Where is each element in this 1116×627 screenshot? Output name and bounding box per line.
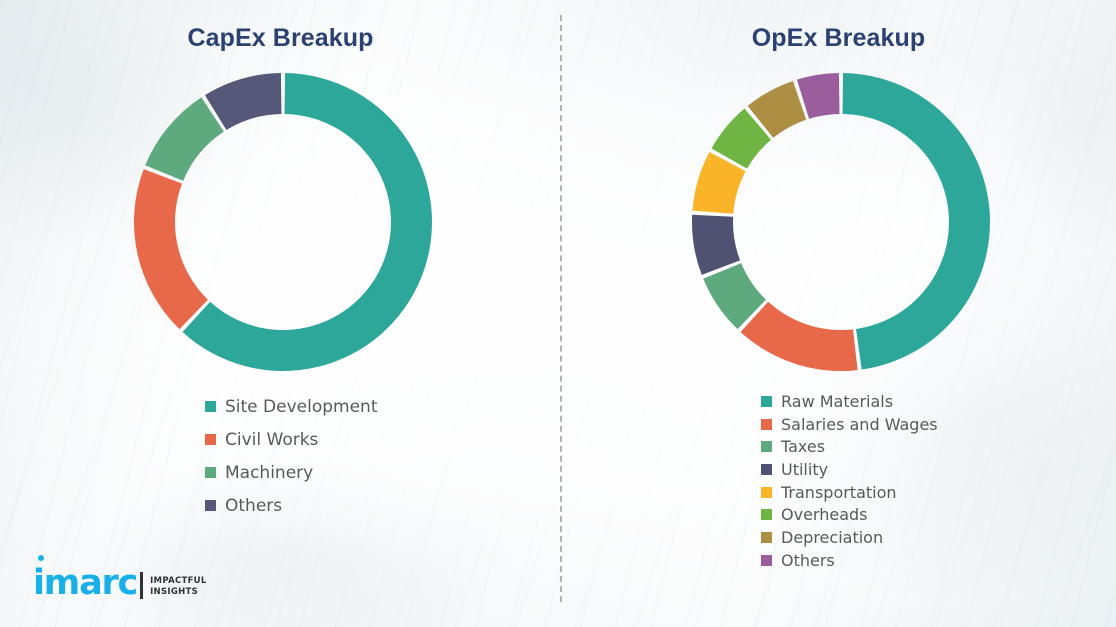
legend-swatch-icon	[205, 401, 216, 412]
legend-swatch-icon	[761, 441, 772, 452]
legend-item-label: Machinery	[225, 463, 313, 483]
imarc-logo: imarc IMPACTFUL INSIGHTS	[33, 566, 207, 601]
legend-swatch-icon	[761, 396, 772, 407]
donut-slice	[134, 169, 208, 329]
legend-swatch-icon	[761, 555, 772, 566]
opex-legend-item: Taxes	[761, 435, 938, 458]
capex-legend-item: Machinery	[205, 456, 378, 489]
legend-item-label: Overheads	[781, 505, 867, 524]
legend-item-label: Others	[225, 496, 282, 516]
legend-swatch-icon	[205, 467, 216, 478]
capex-chart-title: CapEx Breakup	[0, 24, 561, 53]
legend-item-label: Taxes	[781, 437, 825, 456]
donut-slice	[145, 97, 224, 181]
capex-panel: CapEx Breakup Site DevelopmentCivil Work…	[0, 0, 561, 627]
legend-item-label: Site Development	[225, 397, 378, 417]
logo-tagline-line1: IMPACTFUL	[150, 576, 207, 587]
legend-swatch-icon	[761, 419, 772, 430]
legend-item-label: Civil Works	[225, 430, 318, 450]
legend-swatch-icon	[205, 500, 216, 511]
legend-swatch-icon	[205, 434, 216, 445]
opex-donut-svg	[681, 72, 1001, 372]
capex-donut-chart	[123, 72, 443, 372]
opex-legend-item: Overheads	[761, 503, 938, 526]
donut-slice	[843, 73, 990, 370]
legend-swatch-icon	[761, 464, 772, 475]
donut-slice	[692, 215, 740, 275]
opex-legend-item: Others	[761, 549, 938, 572]
capex-legend: Site DevelopmentCivil WorksMachineryOthe…	[205, 390, 378, 522]
panel-divider	[560, 15, 562, 602]
capex-legend-item: Site Development	[205, 390, 378, 423]
opex-chart-title: OpEx Breakup	[561, 24, 1116, 53]
opex-legend-item: Transportation	[761, 481, 938, 504]
legend-item-label: Transportation	[781, 483, 897, 502]
legend-item-label: Salaries and Wages	[781, 415, 938, 434]
logo-divider-bar	[140, 572, 143, 599]
opex-legend-item: Raw Materials	[761, 390, 938, 413]
infographic-canvas: CapEx Breakup Site DevelopmentCivil Work…	[0, 0, 1116, 627]
legend-item-label: Depreciation	[781, 528, 883, 547]
legend-swatch-icon	[761, 487, 772, 498]
capex-legend-item: Civil Works	[205, 423, 378, 456]
opex-legend-item: Salaries and Wages	[761, 413, 938, 436]
logo-wordmark: imarc	[33, 566, 137, 601]
legend-item-label: Utility	[781, 460, 828, 479]
opex-legend-item: Depreciation	[761, 526, 938, 549]
opex-legend: Raw MaterialsSalaries and WagesTaxesUtil…	[761, 390, 938, 572]
capex-legend-item: Others	[205, 489, 378, 522]
logo-tagline-line2: INSIGHTS	[150, 587, 207, 598]
donut-slice	[741, 302, 858, 371]
legend-swatch-icon	[761, 532, 772, 543]
capex-donut-svg	[123, 72, 443, 372]
logo-dot-icon	[38, 555, 44, 561]
legend-item-label: Others	[781, 551, 835, 570]
legend-swatch-icon	[761, 509, 772, 520]
legend-item-label: Raw Materials	[781, 392, 893, 411]
opex-panel: OpEx Breakup Raw MaterialsSalaries and W…	[561, 0, 1116, 627]
opex-donut-chart	[681, 72, 1001, 372]
opex-legend-item: Utility	[761, 458, 938, 481]
logo-tagline: IMPACTFUL INSIGHTS	[150, 576, 207, 598]
